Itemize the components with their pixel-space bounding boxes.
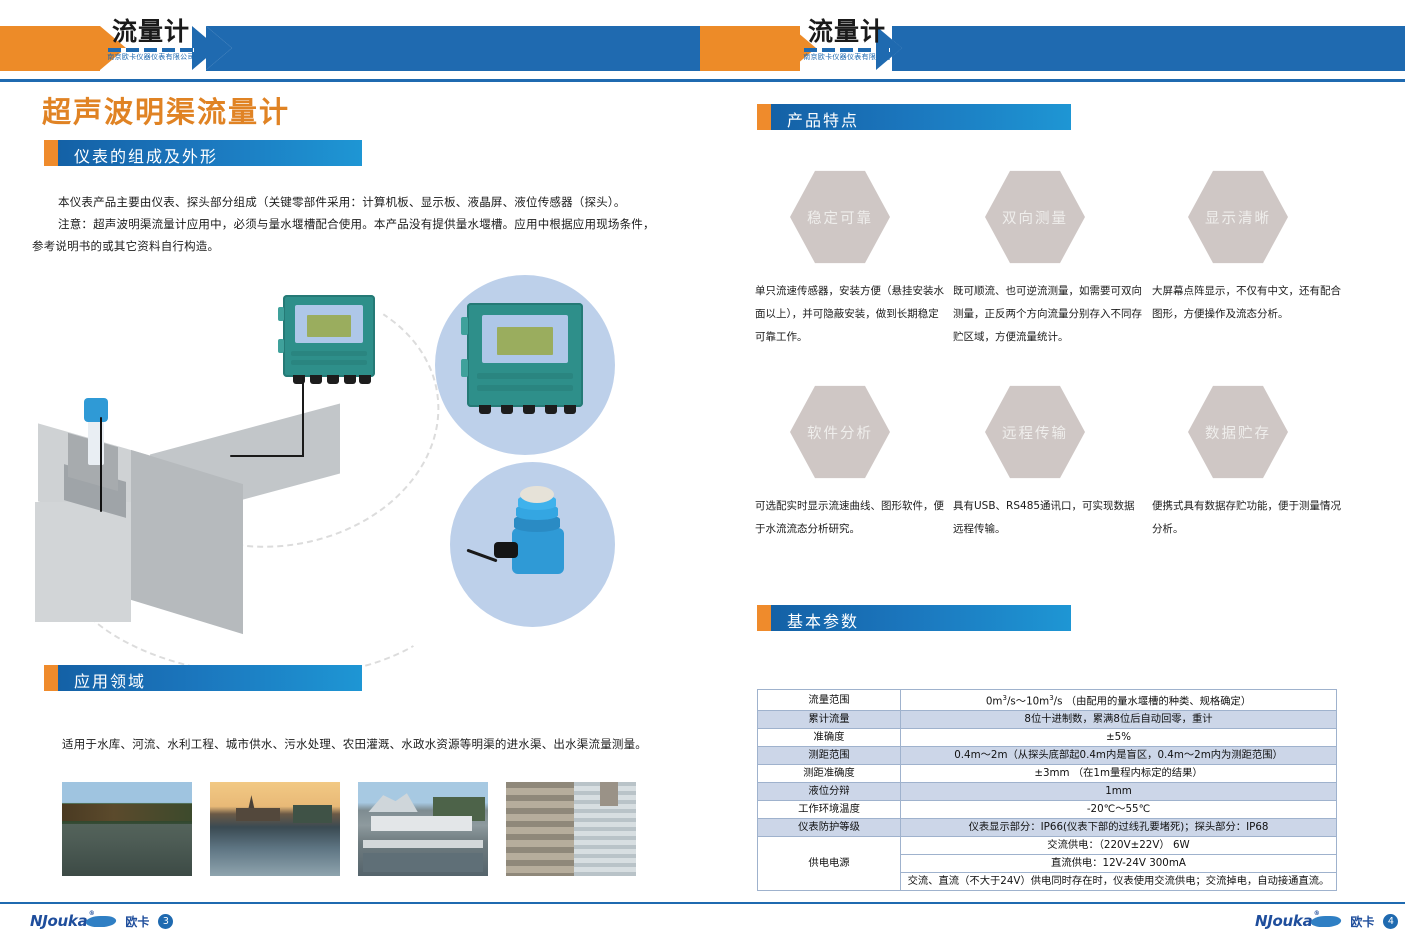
spec-table-body: 流量范围 0m3/s～10m3/s （由配用的量水堰槽的种类、规格确定） 累计流… [758,690,1337,891]
footer-brand-cn-left: 欧卡 [125,913,149,930]
spec-label-power: 供电电源 [758,837,901,891]
city-river-sunset-photo [210,782,340,876]
footer-logo-name-left: NJouka [30,912,87,930]
footer-logo-text-right: NJouka® [1255,912,1312,930]
spec-value-7: 仪表显示部分：IP66(仪表下部的过线孔要堵死)；探头部分：IP68 [901,819,1337,837]
spec-value-4: ±3mm （在1m量程内标定的结果） [901,765,1337,783]
hexagon-shape: 稳定可靠 [790,169,890,265]
water-treatment-plant-photo [358,782,488,876]
spec-value-1: 8位十进制数，累满8位后自动回零，重计 [901,711,1337,729]
spec-label-0: 流量范围 [758,690,901,711]
footer-brand-cn-right: 欧卡 [1350,913,1374,930]
feature-desc-5: 便携式具有数据存贮功能，便于测量情况分析。 [1152,495,1342,541]
spec-value-power-dc: 直流供电：12V-24V 300mA [901,855,1337,873]
spec-label-4: 测距准确度 [758,765,901,783]
footer-brand-right: NJouka® 欧卡 4 [1255,912,1398,930]
table-row: 测距准确度 ±3mm （在1m量程内标定的结果） [758,765,1337,783]
feature-desc-3: 可选配实时显示流速曲线、图形软件，便于水流流态分析研究。 [755,495,945,541]
page-title: 超声波明渠流量计 [42,89,290,131]
river-forest-photo [62,782,192,876]
feature-hex-label-4: 远程传输 [1002,422,1068,443]
feature-hex-label-0: 稳定可靠 [807,207,873,228]
meter-closeup-device [467,303,583,407]
section-header-application: 应用领域 [44,665,362,691]
feature-hex-4: 远程传输 [985,384,1085,480]
header-company-name-right: 南京欧卡仪器仪表有限公司 [792,53,902,62]
composition-paragraph-3: 参考说明书的或其它资料自行构造。 [32,235,632,257]
spec-label-3: 测距范围 [758,747,901,765]
header-logo-text-right: 流量计 [792,18,902,46]
feature-hex-1: 双向测量 [985,169,1085,265]
header-blue-band-left [206,26,700,71]
feature-hex-0: 稳定可靠 [790,169,890,265]
spec-label-2: 准确度 [758,729,901,747]
spec-label-1: 累计流量 [758,711,901,729]
meter-closeup-lcd [497,327,553,355]
brochure-page: 流量计 南京欧卡仪器仪表有限公司 流量计 南京欧卡仪器仪表有限公司 超声波明渠流… [0,0,1405,952]
hexagon-shape: 软件分析 [790,384,890,480]
spec-value-2: ±5% [901,729,1337,747]
specifications-table: 流量范围 0m3/s～10m3/s （由配用的量水堰槽的种类、规格确定） 累计流… [757,689,1337,891]
hexagon-shape: 远程传输 [985,384,1085,480]
header-logo-dashes-right [804,48,890,52]
feature-hex-label-3: 软件分析 [807,422,873,443]
feature-hex-2: 显示清晰 [1188,169,1288,265]
table-row: 仪表防护等级 仪表显示部分：IP66(仪表下部的过线孔要堵死)；探头部分：IP6… [758,819,1337,837]
footer-logo-name-right: NJouka [1255,912,1312,930]
spec-value-6: -20℃～55℃ [901,801,1337,819]
flow-meter-device [283,295,375,377]
feature-desc-0: 单只流速传感器，安装方便（悬挂安装水面以上），并可隐蔽安装，做到长期稳定可靠工作… [755,280,945,349]
section-accent-tab [44,140,58,166]
meter-closeup-circle-photo [435,275,615,455]
spec-value-0: 0m3/s～10m3/s （由配用的量水堰槽的种类、规格确定） [901,690,1337,711]
spec-label-6: 工作环境温度 [758,801,901,819]
section-title-composition: 仪表的组成及外形 [74,143,218,167]
table-row: 测距范围 0.4m～2m（从探头底部起0.4m内是盲区，0.4m～2m内为测距范… [758,747,1337,765]
table-row: 工作环境温度 -20℃～55℃ [758,801,1337,819]
feature-desc-2: 大屏幕点阵显示，不仅有中文，还有配合图形，方便操作及流态分析。 [1152,280,1342,326]
footer-divider-rule [0,902,1405,904]
table-row-power: 供电电源 交流供电：（220V±22V） 6W [758,837,1337,855]
hexagon-shape: 显示清晰 [1188,169,1288,265]
wooden-weir-photo [506,782,636,876]
page-number-right: 4 [1383,914,1398,929]
header-logo-left: 流量计 南京欧卡仪器仪表有限公司 [96,18,206,62]
table-row: 液位分辩 1mm [758,783,1337,801]
meter-display-window [295,305,363,343]
feature-hex-label-2: 显示清晰 [1205,207,1271,228]
composition-paragraph-1: 本仪表产品主要由仪表、探头部分组成（关键零部件采用：计算机板、显示板、液晶屏、液… [58,191,658,213]
header-logo-text: 流量计 [96,18,206,46]
left-column: 超声波明渠流量计 仪表的组成及外形 本仪表产品主要由仪表、探头部分组成（关键零部… [0,82,700,902]
section-title-parameters: 基本参数 [787,608,859,632]
meter-lcd [307,315,351,337]
section-title-application: 应用领域 [74,668,146,692]
spec-label-5: 液位分辩 [758,783,901,801]
feature-hex-3: 软件分析 [790,384,890,480]
spec-value-power-note: 交流、直流（不大于24V）供电同时存在时，仪表使用交流供电；交流掉电，自动接通直… [901,873,1337,891]
product-illustration [30,267,650,597]
application-photo-strip [62,782,640,876]
page-footer: NJouka® 欧卡 3 NJouka® 欧卡 4 [0,902,1405,952]
section-header-composition: 仪表的组成及外形 [44,140,362,166]
application-text: 适用于水库、河流、水利工程、城市供水、污水处理、农田灌溉、水政水资源等明渠的进水… [62,733,662,755]
header-blue-band-right [876,26,1405,71]
feature-hex-label-5: 数据贮存 [1205,422,1271,443]
meter-closeup-display [482,315,568,363]
section-title-features: 产品特点 [787,107,859,131]
feature-hex-label-1: 双向测量 [1002,207,1068,228]
feature-hex-5: 数据贮存 [1188,384,1288,480]
spec-value-power-ac: 交流供电：（220V±22V） 6W [901,837,1337,855]
section-header-parameters: 基本参数 [757,605,1071,631]
header-company-name: 南京欧卡仪器仪表有限公司 [96,53,206,62]
feature-desc-1: 既可顺流、也可逆流测量，如需要可双向测量，正反两个方向流量分别存入不同存贮区域，… [953,280,1143,349]
table-row: 累计流量 8位十进制数，累满8位后自动回零，重计 [758,711,1337,729]
spec-value-5: 1mm [901,783,1337,801]
composition-paragraph-2: 注意：超声波明渠流量计应用中，必须与量水堰槽配合使用。本产品没有提供量水堰槽。应… [58,213,658,235]
footer-swoosh-icon-right [1310,916,1344,927]
page-header-ribbon: 流量计 南京欧卡仪器仪表有限公司 流量计 南京欧卡仪器仪表有限公司 [0,0,1405,82]
footer-swoosh-icon-left [85,916,119,927]
hexagon-shape: 数据贮存 [1188,384,1288,480]
section-accent-tab-parameters [757,605,771,631]
section-accent-tab-application [44,665,58,691]
probe-closeup-circle-photo [450,462,615,627]
page-number-left: 3 [158,914,173,929]
section-header-features: 产品特点 [757,104,1071,130]
footer-logo-text-left: NJouka® [30,912,87,930]
header-logo-right: 流量计 南京欧卡仪器仪表有限公司 [792,18,902,62]
header-logo-dashes [108,48,194,52]
section-accent-tab-features [757,104,771,130]
spec-label-7: 仪表防护等级 [758,819,901,837]
table-row: 准确度 ±5% [758,729,1337,747]
hexagon-shape: 双向测量 [985,169,1085,265]
footer-brand-left: NJouka® 欧卡 3 [30,912,173,930]
table-row: 流量范围 0m3/s～10m3/s （由配用的量水堰槽的种类、规格确定） [758,690,1337,711]
feature-desc-4: 具有USB、RS485通讯口，可实现数据远程传输。 [953,495,1143,541]
spec-value-3: 0.4m～2m（从探头底部起0.4m内是盲区，0.4m～2m内为测距范围） [901,747,1337,765]
